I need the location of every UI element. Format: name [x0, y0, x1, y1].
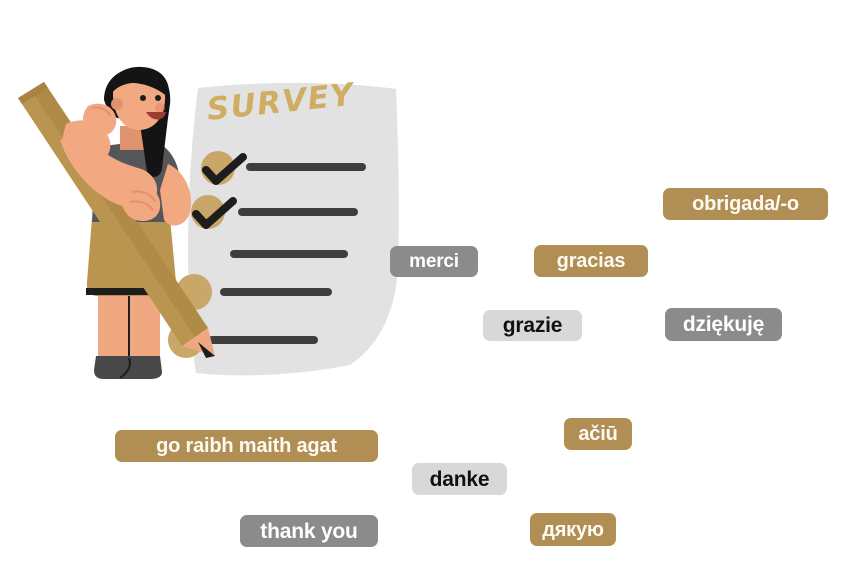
- chip-gracias[interactable]: gracias: [534, 245, 648, 277]
- blush: [155, 103, 165, 113]
- chip-dziekuje[interactable]: dziękuję: [665, 308, 782, 341]
- scribble-line: [238, 208, 358, 216]
- checklist-row-3: [230, 250, 348, 258]
- eye-right: [155, 95, 161, 101]
- scribble-line: [246, 163, 366, 171]
- scribble-line: [220, 288, 332, 296]
- chip-label: gracias: [557, 251, 626, 271]
- chip-dyakuyu[interactable]: дякую: [530, 513, 616, 546]
- chip-label: go raibh maith agat: [156, 436, 337, 456]
- thank-you-graphic-canvas: SURVEY: [0, 0, 848, 579]
- chip-label: grazie: [503, 315, 563, 336]
- survey-illustration: SURVEY: [0, 60, 430, 390]
- chip-label: merci: [409, 252, 459, 271]
- eye-left: [140, 95, 146, 101]
- chip-aciu[interactable]: ačiū: [564, 418, 632, 450]
- chip-label: obrigada/-o: [692, 194, 799, 214]
- chip-label: дякую: [542, 520, 604, 540]
- chip-danke[interactable]: danke: [412, 463, 507, 495]
- person-figure: [18, 67, 215, 379]
- scribble-line: [230, 250, 348, 258]
- chip-grazie[interactable]: grazie: [483, 310, 582, 341]
- scribble-line: [208, 336, 318, 344]
- chip-label: ačiū: [578, 424, 617, 444]
- survey-illustration-svg: SURVEY: [0, 60, 430, 390]
- chip-go-raibh-maith-agat[interactable]: go raibh maith agat: [115, 430, 378, 462]
- chip-label: thank you: [260, 521, 357, 542]
- chip-label: danke: [430, 469, 490, 490]
- ear: [111, 98, 123, 110]
- chip-thank-you[interactable]: thank you: [240, 515, 378, 547]
- chip-label: dziękuję: [683, 314, 764, 335]
- chip-obrigada[interactable]: obrigada/-o: [663, 188, 828, 220]
- chip-merci[interactable]: merci: [390, 246, 478, 277]
